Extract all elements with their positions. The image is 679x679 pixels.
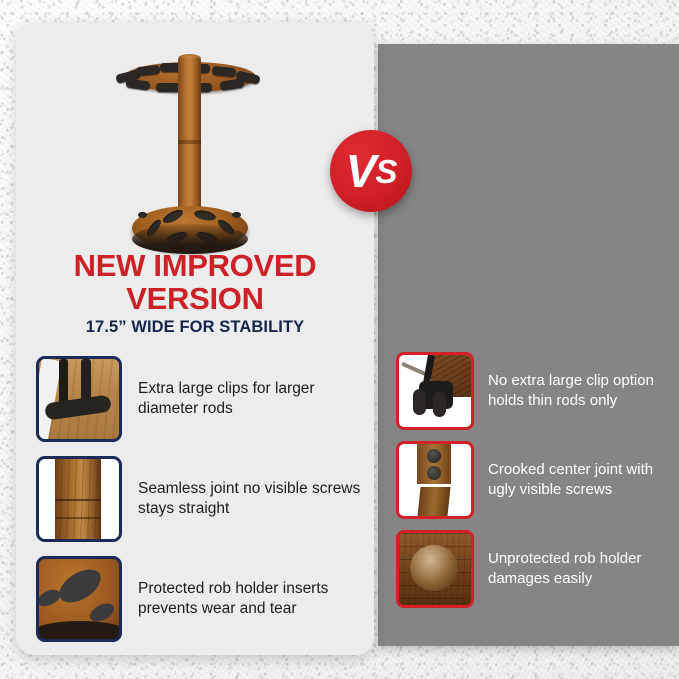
feature-row: Protected rob holder inserts prevents we…	[36, 556, 366, 642]
new-version-feature-list: Extra large clips for larger diameter ro…	[36, 356, 366, 656]
new-version-title-line2: VERSION	[22, 282, 368, 315]
joint-closeup-thumb	[36, 456, 122, 542]
feature-text: Extra large clips for larger diameter ro…	[138, 379, 366, 420]
insert-closeup-thumb	[36, 556, 122, 642]
feature-text: Protected rob holder inserts prevents we…	[138, 579, 366, 620]
post-band	[178, 140, 201, 144]
feature-text: Crooked center joint with ugly visible s…	[488, 460, 666, 500]
feature-row: Crooked center joint with ugly visible s…	[396, 441, 666, 519]
crooked-joint-thumb	[396, 441, 474, 519]
feature-row: Seamless joint no visible screws stays s…	[36, 456, 366, 542]
feature-text: Seamless joint no visible screws stays s…	[138, 479, 366, 520]
vs-letter-s: S	[375, 155, 396, 188]
thin-clip-thumb	[396, 352, 474, 430]
vs-badge: VS	[330, 130, 412, 212]
new-version-subtitle: 17.5” WIDE FOR STABILITY	[22, 318, 368, 337]
feature-row: Unprotected rob holder damages easily	[396, 530, 666, 608]
unprotected-holder-thumb	[396, 530, 474, 608]
feature-row: No extra large clip option holds thin ro…	[396, 352, 666, 430]
comparison-infographic: OLD VERSION 13” WIDE FALLS OVER EASY	[0, 0, 679, 679]
clip-closeup-thumb	[36, 356, 122, 442]
vs-letter-v: V	[346, 148, 376, 194]
new-product-photo	[110, 28, 270, 250]
feature-row: Extra large clips for larger diameter ro…	[36, 356, 366, 442]
new-version-title-line1: NEW IMPROVED	[22, 249, 368, 282]
new-version-title: NEW IMPROVED VERSION	[22, 249, 368, 315]
old-version-feature-list: No extra large clip option holds thin ro…	[396, 352, 666, 619]
feature-text: Unprotected rob holder damages easily	[488, 549, 666, 589]
feature-text: No extra large clip option holds thin ro…	[488, 371, 666, 411]
